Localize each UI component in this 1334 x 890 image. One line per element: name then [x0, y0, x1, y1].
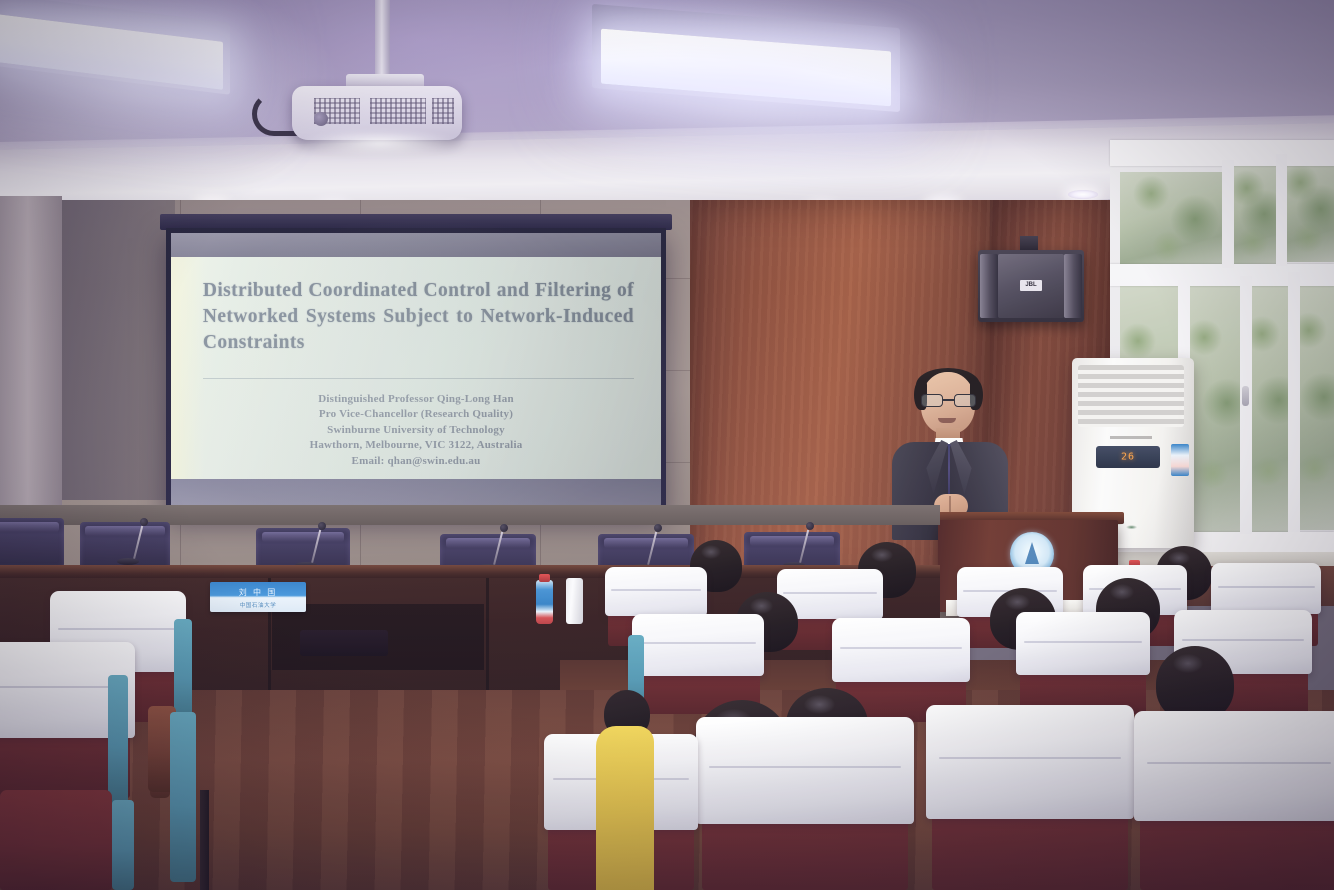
seat-side-panel — [174, 619, 192, 727]
audience-person-yellow-jacket — [596, 726, 654, 890]
presentation-slide: Distributed Coordinated Control and Filt… — [171, 257, 661, 489]
window-pane-main-3 — [1250, 278, 1290, 532]
window-pane-main-4 — [1298, 274, 1334, 530]
seat-side-panel-l3 — [112, 800, 134, 890]
window-mullion-transom — [1222, 160, 1234, 268]
slide-author-email: Email: qhan@swin.edu.au — [200, 454, 631, 470]
loudspeaker-brand-logo: JBL — [1020, 280, 1042, 291]
slide-divider-rule — [203, 378, 634, 379]
dais-chair-1[interactable] — [0, 518, 64, 566]
seat-cover — [605, 567, 707, 616]
lecture-hall-photo: Distributed Coordinated Control and Filt… — [0, 0, 1334, 890]
downlight-8 — [1068, 190, 1098, 199]
ac-display-value: 26 — [1121, 452, 1135, 463]
projector-mount-pole — [375, 0, 390, 78]
projection-screen: Distributed Coordinated Control and Filt… — [166, 228, 666, 514]
slide-title: Distributed Coordinated Control and Filt… — [203, 278, 634, 356]
presenter-glasses — [921, 394, 976, 407]
glasses-bridge — [943, 399, 954, 401]
screen-letterbox-top — [171, 233, 661, 257]
glasses-lens-right — [954, 394, 976, 407]
window-pane-main-2 — [1188, 282, 1242, 534]
seat-side-panel-l4 — [170, 712, 196, 882]
seat-leg-1 — [200, 790, 209, 890]
microphone-base-1 — [117, 558, 139, 565]
water-bottle-cap-1 — [539, 574, 550, 582]
slide-author-institution: Swinburne University of Technology — [200, 423, 631, 439]
thermos-cup[interactable] — [566, 578, 583, 624]
seat-cover — [832, 618, 970, 682]
loudspeaker-side-left — [980, 254, 998, 318]
seat-cover — [1211, 563, 1321, 614]
slide-author-name: Distinguished Professor Qing-Long Han — [200, 392, 631, 408]
projector-vent-center — [370, 98, 426, 124]
empty-seat-l2[interactable] — [0, 648, 130, 798]
window-handle[interactable] — [1242, 386, 1249, 406]
loudspeaker-side-right — [1064, 254, 1082, 318]
empty-seat-l3[interactable] — [0, 790, 112, 890]
slide-author-role: Pro Vice-Chancellor (Research Quality) — [200, 407, 631, 423]
wall-column-left — [0, 196, 62, 526]
screen-surface: Distributed Coordinated Control and Filt… — [171, 233, 661, 509]
slide-author-block: Distinguished Professor Qing-Long Han Pr… — [200, 392, 631, 470]
glasses-lens-left — [921, 394, 943, 407]
seat-frame — [0, 790, 112, 890]
ac-louvers — [1078, 365, 1184, 427]
name-placard: 刘 中 国 中国石油大学 — [210, 582, 306, 612]
placard-name-text: 刘 中 国 — [210, 587, 306, 598]
placard-affiliation-text: 中国石油大学 — [210, 601, 306, 609]
water-bottle-1[interactable] — [536, 580, 553, 624]
projector-light-spill — [300, 130, 460, 156]
projector-lens — [314, 112, 328, 126]
window-mullion-transom-2 — [1276, 154, 1287, 266]
window-pane-transom-mid — [1234, 166, 1276, 266]
window-pane-transom-right — [1286, 160, 1334, 262]
seat-cover — [1134, 711, 1334, 821]
wall-loudspeaker: JBL — [978, 250, 1084, 322]
audience-seat-m3[interactable] — [1020, 616, 1146, 714]
projector-vent-right — [432, 98, 454, 124]
window-mullion-3 — [1288, 272, 1300, 532]
ac-energy-label — [1171, 444, 1189, 476]
dais-equipment — [300, 630, 388, 656]
audience-seat-f3[interactable] — [1140, 718, 1334, 890]
seat-cover — [696, 717, 914, 823]
ac-brand-mark — [1110, 436, 1152, 439]
slide-author-address: Hawthorn, Melbourne, VIC 3122, Australia — [200, 438, 631, 454]
seat-cover — [1016, 612, 1150, 675]
window-pane-transom-left — [1120, 172, 1224, 270]
seat-cover — [926, 705, 1134, 819]
ac-display-panel: 26 — [1096, 446, 1160, 468]
presenter-mouth — [938, 418, 956, 423]
audience-seat-f1[interactable] — [702, 724, 908, 890]
audience-seat-f2[interactable] — [932, 712, 1128, 890]
seat-cover — [632, 614, 763, 675]
seat-side-panel — [108, 675, 128, 804]
